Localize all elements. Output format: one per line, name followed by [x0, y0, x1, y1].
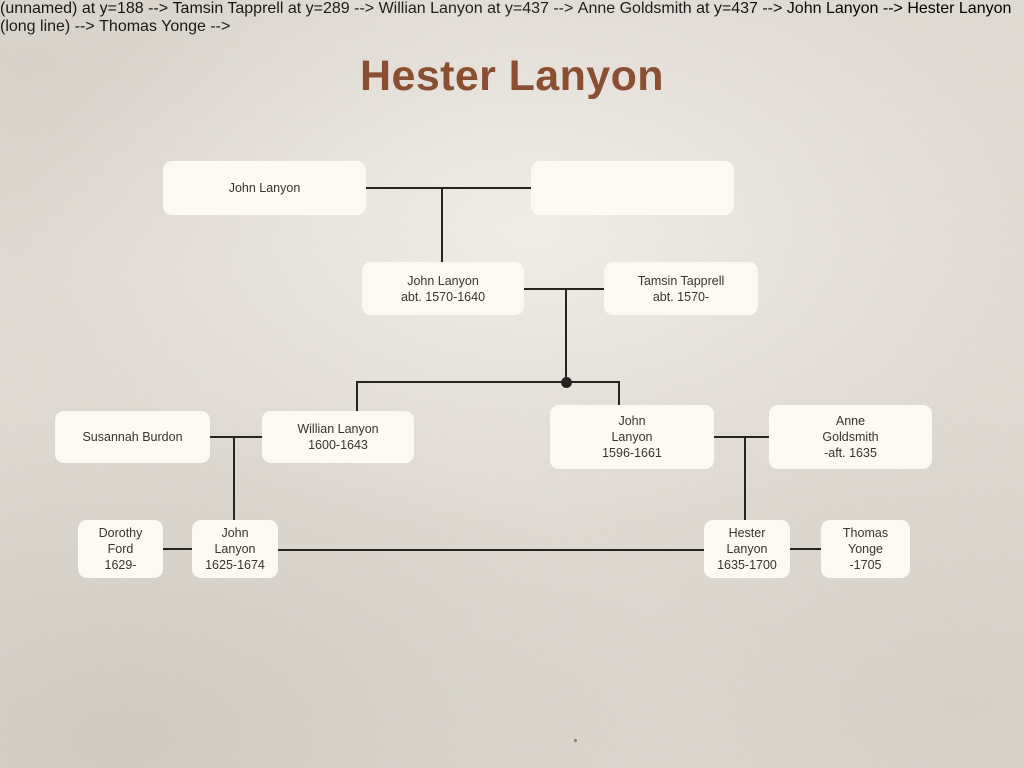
- connector-g4-hester-thomas-marriage: [790, 548, 821, 550]
- person-dates: -aft. 1635: [824, 445, 877, 461]
- person-dates: 1625-1674: [205, 557, 265, 573]
- person-dates: 1629-: [105, 557, 137, 573]
- person-node-g1-unknown-spouse[interactable]: [531, 161, 734, 215]
- person-dates: abt. 1570-1640: [401, 289, 485, 305]
- diagram-canvas: Hester Lanyon (unnamed) at y=188 --> Tam…: [0, 0, 1024, 768]
- page-title: Hester Lanyon: [0, 52, 1024, 101]
- person-name: Hester: [729, 525, 766, 541]
- connector-g4-dorothy-john-marriage: [163, 548, 192, 550]
- person-dates: 1596-1661: [602, 445, 662, 461]
- paper-sheen: [0, 0, 1024, 768]
- person-name: Thomas: [843, 525, 888, 541]
- person-name: John: [221, 525, 248, 541]
- connector-junction-dot: [561, 377, 572, 388]
- connector-g3-left-marriage: [210, 436, 263, 438]
- person-name: John Lanyon: [229, 180, 301, 196]
- person-surname: Lanyon: [726, 541, 767, 557]
- person-node-g4-dorothy-ford[interactable]: Dorothy Ford 1629-: [78, 520, 163, 578]
- paper-speck: [574, 739, 577, 742]
- connector-g3-left-child-drop: [233, 436, 235, 520]
- person-name: Tamsin Tapprell: [638, 273, 725, 289]
- connector-g2-marriage: [523, 288, 605, 290]
- connector-g3-right-child-drop: [744, 436, 746, 520]
- person-node-g3-john-lanyon[interactable]: John Lanyon 1596-1661: [550, 405, 714, 469]
- person-node-g3-susannah-burdon[interactable]: Susannah Burdon: [55, 411, 210, 463]
- person-node-g1-john-lanyon[interactable]: John Lanyon: [163, 161, 366, 215]
- person-node-g4-john-lanyon[interactable]: John Lanyon 1625-1674: [192, 520, 278, 578]
- connector-g2-child-drop: [565, 288, 567, 382]
- person-name: Anne: [836, 413, 865, 429]
- person-dates: -1705: [850, 557, 882, 573]
- person-name: Susannah Burdon: [82, 429, 182, 445]
- person-dates: 1600-1643: [308, 437, 368, 453]
- person-name: Willian Lanyon: [297, 421, 378, 437]
- person-surname: Yonge: [848, 541, 883, 557]
- person-dates: abt. 1570-: [653, 289, 709, 305]
- person-node-g2-tamsin-tapprell[interactable]: Tamsin Tapprell abt. 1570-: [604, 262, 758, 315]
- person-node-g4-thomas-yonge[interactable]: Thomas Yonge -1705: [821, 520, 910, 578]
- person-name: John Lanyon: [407, 273, 479, 289]
- paper-texture: [0, 0, 1024, 768]
- person-surname: Goldsmith: [822, 429, 878, 445]
- person-name: John: [618, 413, 645, 429]
- person-node-g4-hester-lanyon[interactable]: Hester Lanyon 1635-1700: [704, 520, 790, 578]
- connector-g3-right-marriage: [714, 436, 770, 438]
- connector-g2-sibling-leg-left: [356, 381, 358, 411]
- person-node-g3-willian-lanyon[interactable]: Willian Lanyon 1600-1643: [262, 411, 414, 463]
- connector-g1-child-drop: [441, 187, 443, 263]
- person-node-g3-anne-goldsmith[interactable]: Anne Goldsmith -aft. 1635: [769, 405, 932, 469]
- person-dates: 1635-1700: [717, 557, 777, 573]
- person-node-g2-john-lanyon[interactable]: John Lanyon abt. 1570-1640: [362, 262, 524, 315]
- person-surname: Lanyon: [214, 541, 255, 557]
- connector-g4-john-hester-marriage: [278, 549, 705, 551]
- connector-g2-sibling-bar: [356, 381, 620, 383]
- connector-g1-marriage: [365, 187, 532, 189]
- person-surname: Ford: [108, 541, 134, 557]
- person-surname: Lanyon: [611, 429, 652, 445]
- person-name: Dorothy: [99, 525, 143, 541]
